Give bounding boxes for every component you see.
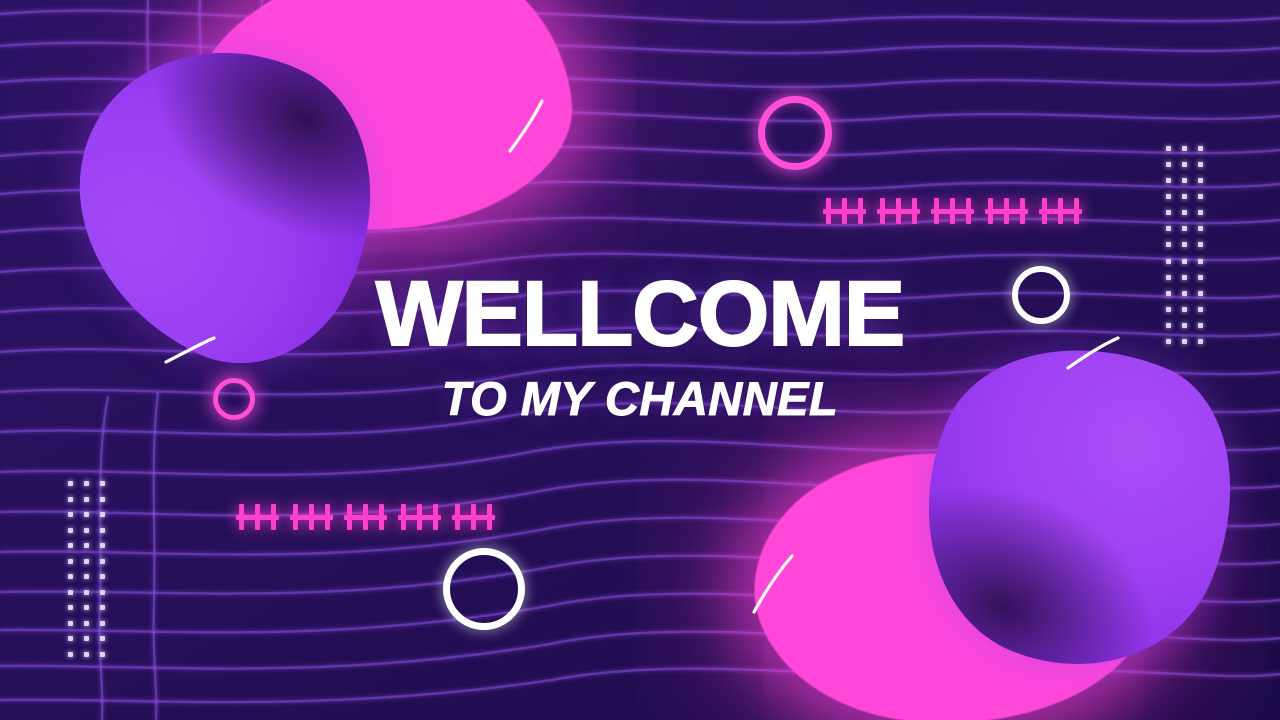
tally-group — [452, 504, 495, 530]
tally-group — [1039, 198, 1082, 224]
white-ring-bottom — [443, 548, 525, 630]
tally-group — [931, 198, 974, 224]
page-subtitle: TO MY CHANNEL — [0, 371, 1280, 426]
tally-marks-top-right — [823, 198, 1082, 224]
welcome-banner: WELLCOME TO MY CHANNEL — [0, 0, 1280, 720]
headline-block: WELLCOME TO MY CHANNEL — [0, 272, 1280, 426]
page-title: WELLCOME — [0, 272, 1280, 357]
tally-group — [877, 198, 920, 224]
tally-group — [236, 504, 279, 530]
tally-group — [398, 504, 441, 530]
tally-group — [290, 504, 333, 530]
dot-grid-left — [62, 476, 110, 662]
tally-group — [823, 198, 866, 224]
tally-group — [344, 504, 387, 530]
pink-ring-top — [758, 96, 832, 170]
tally-marks-bottom-left — [236, 504, 495, 530]
tally-group — [985, 198, 1028, 224]
